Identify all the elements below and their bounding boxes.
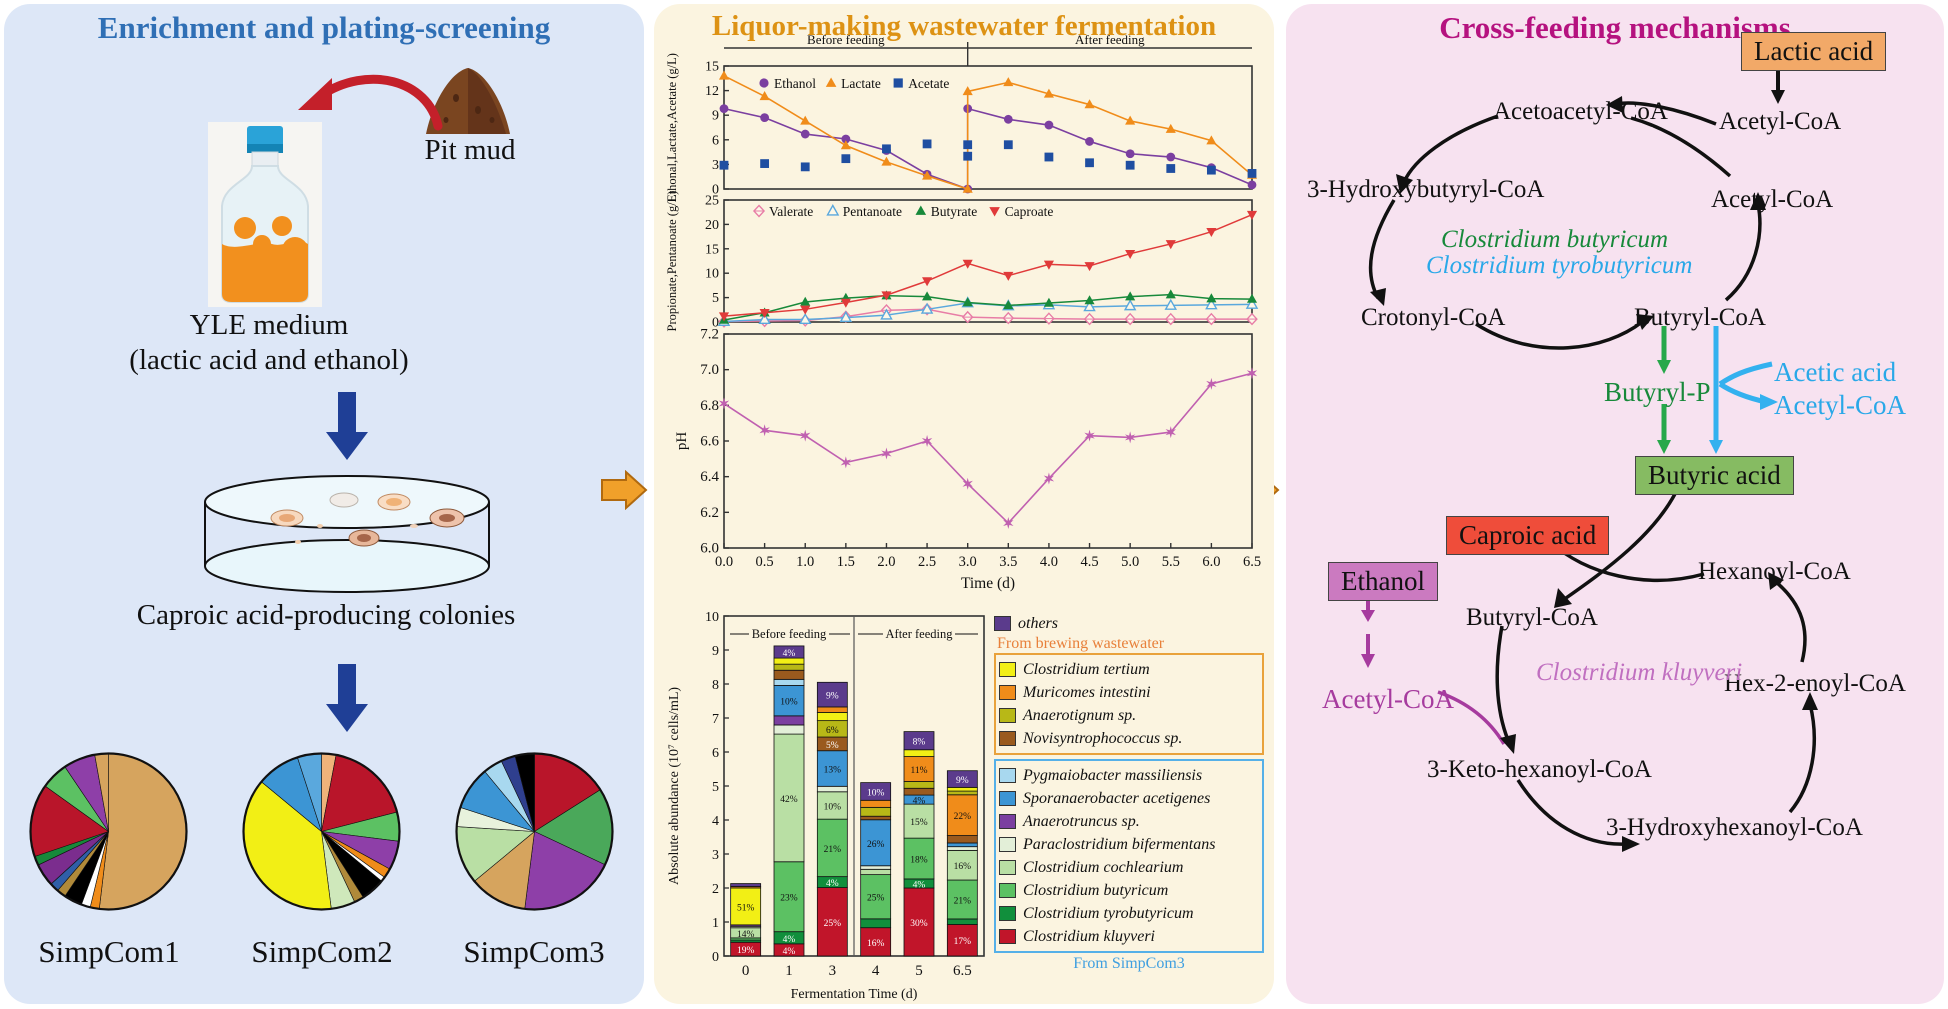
node-acetoacetyl-coa: Acetoacetyl-CoA	[1493, 98, 1668, 126]
svg-text:17%: 17%	[954, 937, 972, 947]
bar-segment	[904, 750, 934, 757]
legend-swatch	[999, 731, 1016, 746]
svg-text:0: 0	[742, 963, 750, 979]
pie-slice	[99, 754, 186, 910]
bar-segment	[947, 791, 977, 795]
svg-text:6.8: 6.8	[700, 398, 719, 414]
svg-text:After feeding: After feeding	[1075, 32, 1145, 47]
svg-text:10: 10	[705, 610, 719, 625]
bar-segment	[947, 847, 977, 851]
svg-text:3.0: 3.0	[959, 554, 977, 570]
panel-crossfeeding: Cross-feeding mechanisms	[1286, 4, 1944, 1004]
legend-swatch	[999, 708, 1016, 723]
legend-label: Muricomes intestini	[1023, 684, 1151, 702]
svg-text:2.0: 2.0	[877, 554, 895, 570]
node-acetyl-coa-right: Acetyl-CoA	[1711, 186, 1833, 214]
svg-text:9: 9	[712, 109, 719, 124]
bar-segment	[817, 707, 847, 712]
legend-label: Clostridium butyricum	[1023, 882, 1168, 900]
node-acetyl-coa-top: Acetyl-CoA	[1719, 108, 1841, 136]
svg-text:4%: 4%	[783, 947, 796, 957]
svg-text:4: 4	[872, 963, 880, 979]
svg-text:23%: 23%	[780, 894, 798, 904]
legend-item: Novisyntrophococcus sp.	[999, 727, 1257, 750]
bar-segment	[774, 670, 804, 679]
svg-text:19%: 19%	[737, 946, 755, 956]
svg-text:7.0: 7.0	[700, 362, 719, 378]
species-clostridium-butyricum: Clostridium butyricum	[1441, 226, 1668, 254]
species-clostridium-kluyveri: Clostridium kluyveri	[1536, 659, 1742, 687]
bar-segment	[731, 884, 761, 887]
svg-text:6.0: 6.0	[1202, 554, 1220, 570]
svg-text:10%: 10%	[867, 788, 885, 798]
svg-text:Ethonal,Lactate,Acetate (g/L): Ethonal,Lactate,Acetate (g/L)	[665, 53, 679, 202]
legend-group-simpcom3: Pygmaiobacter massiliensisSporanaerobact…	[994, 759, 1264, 953]
legend-label: Clostridium cochlearium	[1023, 859, 1183, 877]
svg-text:3.5: 3.5	[999, 554, 1017, 570]
svg-text:26%: 26%	[867, 840, 885, 850]
svg-text:8%: 8%	[913, 738, 926, 748]
svg-text:3: 3	[712, 158, 719, 173]
abundance-legend: othersFrom brewing wastewaterClostridium…	[994, 612, 1264, 973]
down-arrow-icon-1	[324, 392, 370, 462]
svg-text:7.2: 7.2	[700, 327, 719, 343]
svg-text:6: 6	[712, 746, 719, 761]
pit-mud-label: Pit mud	[400, 134, 540, 167]
down-arrow-icon-2	[324, 664, 370, 734]
node-3-hydroxybutyryl-coa: 3-Hydroxybutyryl-CoA	[1307, 176, 1544, 204]
pie-label-simpcom1: SimpCom1	[9, 934, 209, 970]
yle-medium-bottle-icon	[200, 122, 330, 307]
legend-swatch	[999, 791, 1016, 806]
bar-segment	[947, 919, 977, 925]
bar-segment	[904, 781, 934, 788]
legend-label: Clostridium tertium	[1023, 661, 1150, 679]
svg-text:Ethanol: Ethanol	[774, 76, 816, 91]
legend-label: Anaerotruncus sp.	[1023, 813, 1140, 831]
svg-text:Acetate: Acetate	[908, 76, 949, 91]
svg-text:Time (d): Time (d)	[961, 575, 1015, 592]
node-crotonyl-coa: Crotonyl-CoA	[1361, 304, 1505, 332]
svg-text:5.0: 5.0	[1121, 554, 1139, 570]
species-clostridium-tyrobutyricum: Clostridium tyrobutyricum	[1426, 252, 1692, 280]
pie-chart-simpcom1	[26, 749, 191, 914]
svg-text:16%: 16%	[867, 939, 885, 949]
bar-segment	[861, 816, 891, 820]
legend-group-brewing: Clostridium tertiumMuricomes intestiniAn…	[994, 653, 1264, 755]
svg-text:3: 3	[829, 963, 837, 979]
svg-text:6.4: 6.4	[700, 469, 719, 485]
legend-item: Sporanaerobacter acetigenes	[999, 787, 1257, 810]
legend-item: Anaerotruncus sp.	[999, 810, 1257, 833]
svg-text:5.5: 5.5	[1162, 554, 1180, 570]
legend-swatch	[999, 883, 1016, 898]
svg-text:9%: 9%	[956, 776, 969, 786]
bar-segment	[861, 866, 891, 870]
svg-text:Lactate: Lactate	[841, 76, 881, 91]
legend-item: Clostridium butyricum	[999, 879, 1257, 902]
legend-item: Clostridium kluyveri	[999, 925, 1257, 948]
legend-label: Clostridium tyrobutyricum	[1023, 905, 1194, 923]
chart-ph: 6.06.26.46.66.87.07.2pH0.00.51.01.52.02.…	[674, 327, 1261, 593]
node-lactic-acid: Lactic acid	[1741, 32, 1886, 71]
svg-text:51%: 51%	[737, 903, 755, 913]
petri-dish-icon	[202, 474, 492, 594]
node-ethanol: Ethanol	[1328, 562, 1438, 601]
svg-text:2.5: 2.5	[918, 554, 936, 570]
svg-text:Propionate,Pentanoate (g/L): Propionate,Pentanoate (g/L)	[665, 191, 679, 332]
legend-group-footer-simpcom3: From SimpCom3	[994, 953, 1264, 973]
legend-swatch	[999, 860, 1016, 875]
legend-item: others	[994, 612, 1264, 635]
yle-medium-label: YLE medium	[64, 309, 474, 342]
legend-label: others	[1018, 615, 1058, 633]
svg-text:4%: 4%	[826, 879, 839, 889]
svg-text:30%: 30%	[910, 919, 928, 929]
svg-text:21%: 21%	[824, 845, 842, 855]
svg-text:4%: 4%	[783, 649, 796, 659]
legend-swatch	[999, 768, 1016, 783]
svg-text:3: 3	[712, 848, 719, 863]
legend-label: Novisyntrophococcus sp.	[1023, 730, 1182, 748]
bar-segment	[817, 786, 847, 791]
svg-text:0: 0	[712, 950, 719, 965]
bar-segment	[817, 712, 847, 720]
bar-segment	[861, 807, 891, 816]
bar-segment	[904, 788, 934, 795]
svg-text:Valerate: Valerate	[769, 204, 813, 219]
chart-abundance: 012345678910Absolute abundance (10⁷ cell…	[667, 610, 984, 1002]
node-acetyl-coa-blue: Acetyl-CoA	[1774, 390, 1906, 421]
svg-text:13%: 13%	[824, 766, 842, 776]
svg-text:10%: 10%	[824, 802, 842, 812]
legend-item: Anaerotignum sp.	[999, 704, 1257, 727]
node-butyryl-coa-top: Butyryl-CoA	[1634, 304, 1766, 332]
svg-text:Before feeding: Before feeding	[807, 32, 885, 47]
node-3-hydroxyhexanoyl-coa: 3-Hydroxyhexanoyl-CoA	[1606, 814, 1863, 842]
svg-text:4%: 4%	[913, 797, 926, 807]
node-acetic-acid: Acetic acid	[1774, 357, 1896, 388]
svg-text:After feeding: After feeding	[886, 627, 954, 641]
legend-item: Muricomes intestini	[999, 681, 1257, 704]
legend-item: Paraclostridium bifermentans	[999, 833, 1257, 856]
svg-text:Butyrate: Butyrate	[931, 204, 978, 219]
svg-text:15: 15	[705, 60, 719, 75]
svg-text:25: 25	[705, 194, 719, 209]
svg-text:4: 4	[712, 814, 719, 829]
panel-left-title: Enrichment and plating-screening	[4, 10, 644, 46]
svg-text:6%: 6%	[826, 726, 839, 736]
pie-chart-simpcom3	[452, 749, 617, 914]
pathway-arrows	[1286, 4, 1944, 1004]
svg-text:5%: 5%	[826, 741, 839, 751]
node-hexanoyl-coa: Hexanoyl-CoA	[1698, 558, 1851, 586]
svg-text:4.0: 4.0	[1040, 554, 1058, 570]
legend-item: Clostridium cochlearium	[999, 856, 1257, 879]
legend-swatch	[994, 616, 1011, 631]
svg-text:6.5: 6.5	[953, 963, 972, 979]
node-caproic-acid: Caproic acid	[1446, 516, 1609, 555]
svg-text:Caproate: Caproate	[1005, 204, 1054, 219]
bar-segment	[861, 919, 891, 928]
bar-segment	[947, 843, 977, 847]
svg-text:15%: 15%	[910, 818, 928, 828]
legend-label: Clostridium kluyveri	[1023, 928, 1155, 946]
bar-segment	[861, 869, 891, 874]
svg-text:4%: 4%	[913, 880, 926, 890]
legend-swatch	[999, 906, 1016, 921]
legend-swatch	[999, 929, 1016, 944]
chart-products: 0510152025Propionate,Pentanoate (g/L)Val…	[665, 191, 1257, 332]
svg-text:6.5: 6.5	[1243, 554, 1261, 570]
yle-medium-sublabel: (lactic acid and ethanol)	[44, 344, 494, 377]
svg-text:Before feeding: Before feeding	[752, 627, 827, 641]
svg-text:0.5: 0.5	[756, 554, 774, 570]
node-3-keto-hexanoyl-coa: 3-Keto-hexanoyl-CoA	[1427, 756, 1652, 784]
legend-label: Sporanaerobacter acetigenes	[1023, 790, 1210, 808]
legend-label: Paraclostridium bifermentans	[1023, 836, 1215, 854]
bar-segment	[774, 725, 804, 734]
bar-segment	[774, 716, 804, 725]
svg-text:1.5: 1.5	[837, 554, 855, 570]
svg-text:16%: 16%	[954, 862, 972, 872]
svg-text:18%: 18%	[910, 856, 928, 866]
svg-text:4%: 4%	[783, 935, 796, 945]
svg-text:14%: 14%	[737, 930, 755, 940]
svg-text:2: 2	[712, 882, 719, 897]
svg-text:25%: 25%	[867, 894, 885, 904]
svg-text:9%: 9%	[826, 692, 839, 702]
svg-text:11%: 11%	[910, 766, 927, 776]
legend-swatch	[999, 662, 1016, 677]
node-butyryl-p: Butyryl-P	[1604, 377, 1711, 408]
svg-text:0.0: 0.0	[715, 554, 733, 570]
svg-text:12: 12	[705, 84, 719, 99]
svg-text:5: 5	[915, 963, 923, 979]
svg-text:21%: 21%	[954, 896, 972, 906]
pie-chart-simpcom2	[239, 749, 404, 914]
bar-segment	[947, 787, 977, 791]
svg-text:1: 1	[785, 963, 793, 979]
bar-segment	[774, 679, 804, 685]
bar-segment	[774, 664, 804, 670]
panel-enrichment: Enrichment and plating-screening Pit mud…	[4, 4, 644, 1004]
svg-text:pH: pH	[674, 432, 690, 451]
svg-text:9: 9	[712, 644, 719, 659]
panel-fermentation: Liquor-making wastewater fermentation Be…	[654, 4, 1274, 1004]
svg-text:15: 15	[705, 242, 719, 257]
legend-swatch	[999, 837, 1016, 852]
svg-text:6: 6	[712, 133, 719, 148]
svg-text:8: 8	[712, 678, 719, 693]
svg-text:42%: 42%	[780, 795, 798, 805]
svg-text:6.6: 6.6	[700, 434, 719, 450]
svg-text:5: 5	[712, 291, 719, 306]
svg-text:Fermentation Time (d): Fermentation Time (d)	[791, 987, 918, 1002]
legend-item: Clostridium tertium	[999, 658, 1257, 681]
node-butyryl-coa-bottom: Butyryl-CoA	[1466, 604, 1598, 632]
transition-arrow-icon-1	[600, 470, 648, 510]
legend-group-header-brewing: From brewing wastewater	[994, 635, 1264, 653]
node-acetyl-coa-purple: Acetyl-CoA	[1322, 684, 1454, 715]
svg-text:22%: 22%	[954, 812, 972, 822]
svg-text:1.0: 1.0	[796, 554, 814, 570]
bar-segment	[947, 836, 977, 843]
legend-swatch	[999, 685, 1016, 700]
chart-substrates: Before feedingAfter feeding03691215Ethon…	[665, 32, 1257, 202]
svg-text:7: 7	[712, 712, 719, 727]
legend-item: Clostridium tyrobutyricum	[999, 902, 1257, 925]
legend-label: Pygmaiobacter massiliensis	[1023, 767, 1202, 785]
colonies-label: Caproic acid-producing colonies	[26, 599, 626, 632]
svg-text:1: 1	[712, 916, 719, 931]
svg-text:4.5: 4.5	[1080, 554, 1098, 570]
svg-text:Pentanoate: Pentanoate	[843, 204, 902, 219]
svg-text:10: 10	[705, 267, 719, 282]
svg-text:6.2: 6.2	[700, 505, 719, 521]
svg-text:Absolute abundance (10⁷ cells/: Absolute abundance (10⁷ cells/mL)	[667, 687, 682, 885]
pie-label-simpcom3: SimpCom3	[434, 934, 634, 970]
svg-text:5: 5	[712, 780, 719, 795]
legend-item: Pygmaiobacter massiliensis	[999, 764, 1257, 787]
svg-text:10%: 10%	[780, 698, 798, 708]
pie-label-simpcom2: SimpCom2	[222, 934, 422, 970]
legend-label: Anaerotignum sp.	[1023, 707, 1136, 725]
svg-text:20: 20	[705, 218, 719, 233]
svg-text:25%: 25%	[824, 919, 842, 929]
node-hex-2-enoyl-coa: Hex-2-enoyl-CoA	[1724, 670, 1906, 698]
bar-segment	[861, 800, 891, 807]
legend-swatch	[999, 814, 1016, 829]
node-butyric-acid: Butyric acid	[1635, 456, 1794, 495]
